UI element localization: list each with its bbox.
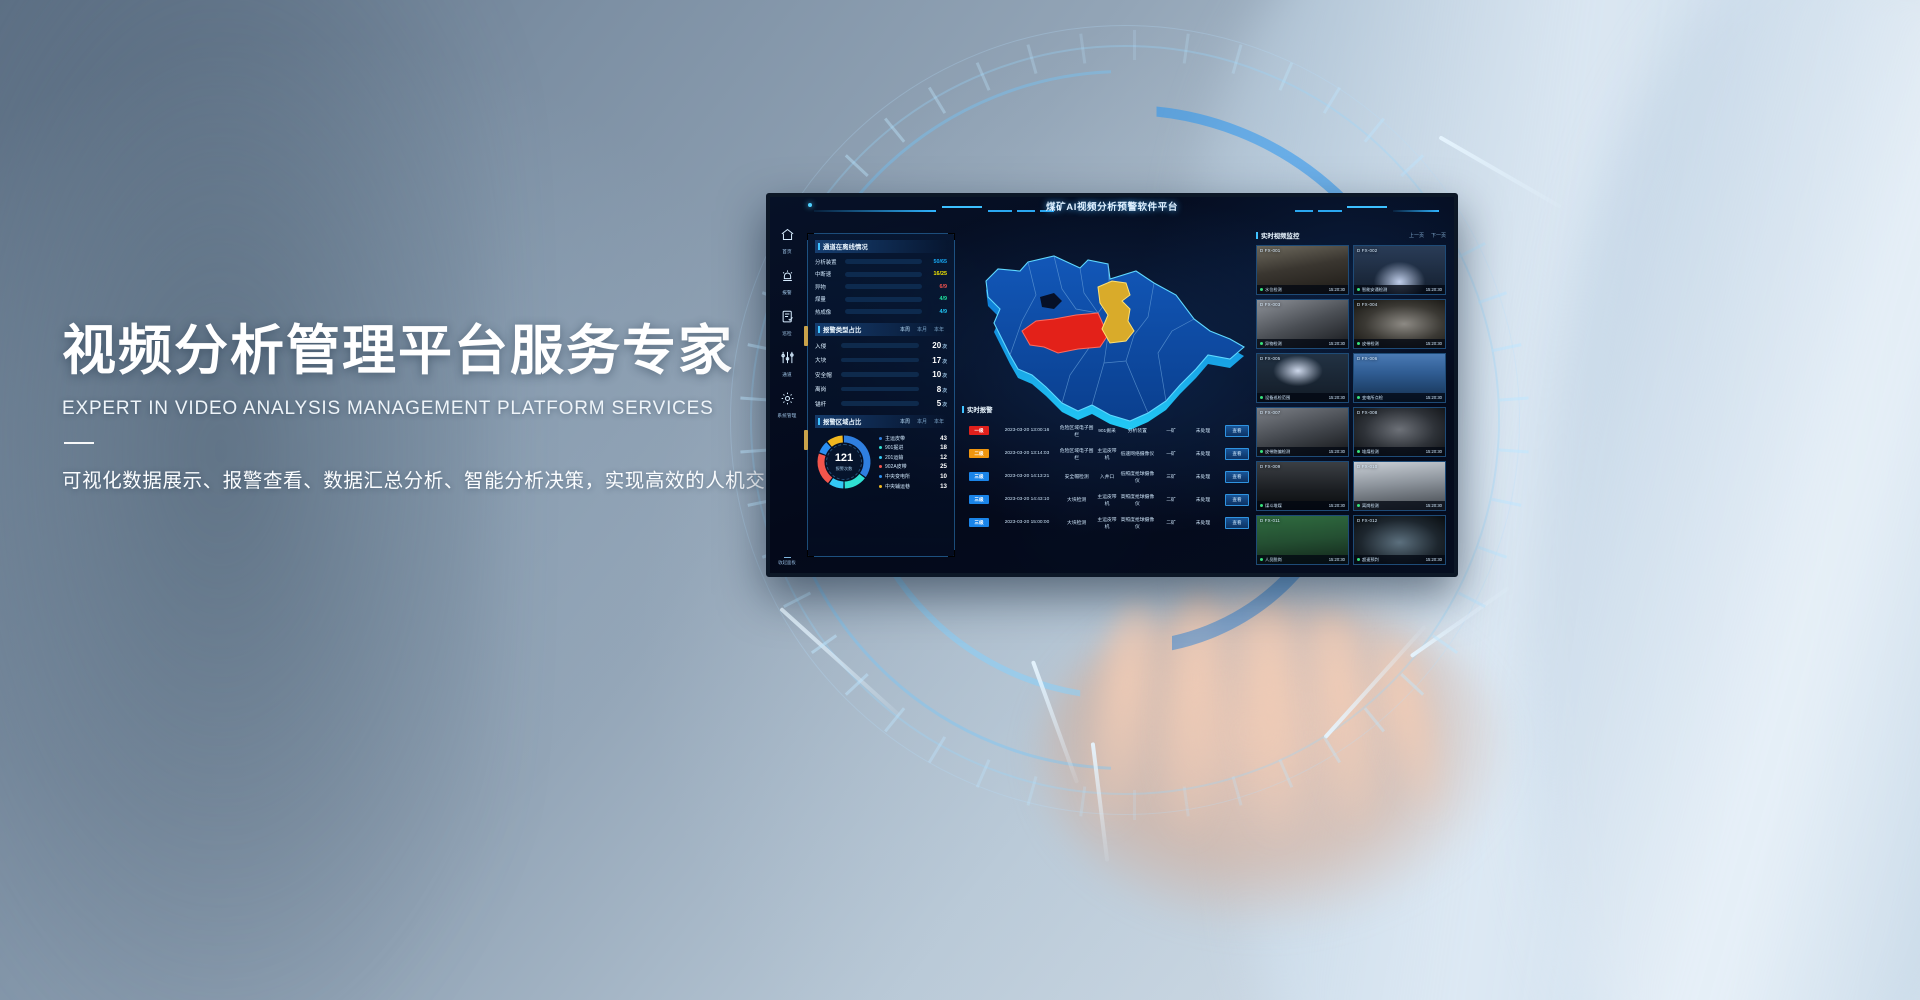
video-timestamp: 15:20:30 (1329, 287, 1345, 292)
camera-id: D FX-011 (1260, 518, 1280, 523)
alarm-device: 高照度抢球摄像仪 (1119, 488, 1156, 511)
channel-bar-track (845, 297, 922, 302)
alarm-type-value: 10次 (923, 370, 947, 379)
alarm-type-name: 入侵 (815, 342, 837, 350)
detection-status: 人员脱岗 (1260, 557, 1282, 563)
video-tile-7[interactable]: D FX-008 堆煤检测 15:20:30 (1353, 407, 1446, 457)
alarm-place: 主运皮带机 (1095, 488, 1118, 511)
detection-status: 变电所点检 (1357, 395, 1383, 401)
channel-value: 50/65 (926, 259, 947, 265)
view-button[interactable]: 查看 (1225, 448, 1248, 460)
alarm-type-value: 17次 (923, 356, 947, 365)
detection-status: 堆煤检测 (1357, 449, 1379, 455)
status-badge: 三级 (969, 495, 988, 504)
sidebar-item-3[interactable]: 通道 (780, 350, 795, 378)
video-timestamp: 15:20:30 (1329, 341, 1345, 346)
legend-color-dot (879, 485, 882, 488)
alarm-mine: 一矿 (1156, 442, 1186, 465)
sidebar-item-2[interactable]: 巡检 (780, 309, 795, 337)
sidebar-item-4[interactable]: 系统管理 (777, 391, 796, 419)
channel-name: 异物 (815, 283, 841, 291)
alarm-icon (780, 268, 795, 288)
background-dark-gradient (0, 0, 500, 1000)
view-button[interactable]: 查看 (1225, 494, 1248, 506)
channel-bar-track (845, 309, 922, 314)
detection-status: 超速预判 (1357, 557, 1379, 563)
sidebar-item-label: 系统管理 (777, 413, 796, 419)
channel-bar-track (845, 284, 922, 289)
legend-value: 43 (940, 435, 947, 442)
collapse-panel-button[interactable]: 收起面板 (770, 557, 804, 567)
alarm-place: 主运皮带机 (1095, 442, 1118, 465)
legend-label: 中央辅运巷 (885, 483, 937, 490)
status-badge: 三级 (969, 518, 988, 527)
alarm-mine: 一矿 (1156, 419, 1186, 442)
camera-id: D FX-006 (1357, 356, 1377, 361)
channel-value: 4/9 (926, 296, 947, 302)
video-timestamp: 15:20:30 (1426, 557, 1442, 562)
alarm-area-legend-item: 902A皮带 25 (879, 463, 947, 470)
alarm-mine: 二矿 (1156, 488, 1186, 511)
channel-name: 煤量 (815, 295, 841, 303)
alarm-total-count: 121 (835, 453, 853, 464)
video-tile-0[interactable]: D FX-001 水位检测 15:20:30 (1256, 245, 1349, 295)
legend-label: 902A皮带 (885, 463, 937, 470)
video-timestamp: 15:20:30 (1426, 503, 1442, 508)
alarm-type: 大块检测 (1058, 488, 1095, 511)
detection-status: 设备巡检范围 (1260, 395, 1290, 401)
table-row[interactable]: 一级 2023-03-20 13:00:16 危险区域电子围栏 901掘采 分析… (962, 419, 1254, 442)
alarm-time: 2023-03-20 13:14:03 (996, 442, 1058, 465)
alarm-device: 低速网络摄像仪 (1119, 442, 1156, 465)
legend-color-dot (879, 456, 882, 459)
channel-bar-track (845, 259, 922, 264)
alarm-area-legend-item: 中央辅运巷 13 (879, 483, 947, 490)
center-column: 实时报警 一级 2023-03-20 13:00:16 危险区域电子围栏 901… (962, 231, 1254, 557)
detection-status: 皮带跑偏检测 (1260, 449, 1290, 455)
alarm-place: 入井口 (1095, 465, 1118, 488)
camera-id: D FX-009 (1260, 464, 1280, 469)
channel-status-row: 煤量 4/9 (815, 295, 947, 303)
alarm-area-section: 报警区域占比 本周本月本年 121 报警次数 主运皮带 43 901掘进 18 (815, 415, 947, 492)
detection-status: 离岗检测 (1357, 503, 1379, 509)
realtime-alarm-title: 实时报警 (962, 405, 1254, 414)
inspection-icon (780, 309, 795, 329)
video-timestamp: 15:20:30 (1426, 341, 1442, 346)
alarm-type-row: 安全帽 10次 (815, 370, 947, 379)
camera-id: D FX-012 (1357, 518, 1377, 523)
channel-value: 6/9 (926, 284, 947, 290)
video-wall-panel: 实时视频监控 上一页 下一页 D FX-001 水位检测 15:20:30 D … (1256, 231, 1446, 557)
table-row[interactable]: 三级 2023-03-20 15:00:00 大块检测 主运皮带机 高照度抢球摄… (962, 511, 1254, 534)
view-button[interactable]: 查看 (1225, 425, 1248, 437)
table-row[interactable]: 二级 2023-03-20 13:14:03 危险区域电子围栏 主运皮带机 低速… (962, 442, 1254, 465)
alarm-type: 危险区域电子围栏 (1058, 442, 1095, 465)
video-timestamp: 15:20:30 (1426, 395, 1442, 400)
alarm-type-bar-track (841, 401, 919, 406)
legend-label: 主运皮带 (885, 435, 937, 442)
home-icon (780, 227, 795, 247)
alarm-type-bar-track (841, 372, 919, 377)
alarm-type-name: 大块 (815, 356, 837, 364)
realtime-alarm-table: 一级 2023-03-20 13:00:16 危险区域电子围栏 901掘采 分析… (962, 419, 1254, 534)
detection-status: 皮带检测 (1357, 341, 1379, 347)
video-timestamp: 15:20:30 (1426, 449, 1442, 454)
alarm-area-tab-1[interactable]: 本月 (917, 418, 927, 425)
dashboard-sidebar: 首页 报警 巡检 通道 系统管理 收起面板 (770, 221, 804, 573)
video-tile-8[interactable]: D FX-009 煤斗堆煤 15:20:30 (1256, 461, 1349, 511)
camera-id: D FX-007 (1260, 410, 1280, 415)
sidebar-item-label: 首页 (782, 249, 792, 255)
view-button[interactable]: 查看 (1225, 471, 1248, 483)
page-title: 视频分析管理平台服务专家 (62, 320, 862, 382)
alarm-status: 未处理 (1186, 488, 1220, 511)
channel-status-title: 通道在离线情况 (818, 242, 868, 251)
alarm-type-tabs[interactable]: 本周本月本年 (900, 326, 944, 333)
camera-id: D FX-001 (1260, 248, 1280, 253)
hero-description: 可视化数据展示、报警查看、数据汇总分析、智能分析决策，实现高效的人机交互 (62, 464, 862, 493)
status-badge: 一级 (969, 426, 988, 435)
alarm-type-tab-0[interactable]: 本周 (900, 326, 910, 333)
dashboard-screen: 煤矿AI视频分析预警软件平台 首页 报警 巡检 通道 系统管理 收起面板 通道在… (766, 193, 1458, 577)
video-tile-9[interactable]: D FX-010 离岗检测 15:20:30 (1353, 461, 1446, 511)
legend-label: 201运输 (885, 454, 937, 461)
alarm-status: 未处理 (1186, 419, 1220, 442)
legend-color-dot (879, 475, 882, 478)
legend-value: 12 (940, 454, 947, 461)
camera-id: D FX-008 (1357, 410, 1377, 415)
alarm-type: 大块检测 (1058, 511, 1095, 534)
alarm-device: 分析装置 (1119, 419, 1156, 442)
legend-label: 中央变电所 (885, 473, 937, 480)
legend-color-dot (879, 446, 882, 449)
video-tile-3[interactable]: D FX-004 皮带检测 15:20:30 (1353, 299, 1446, 349)
alarm-area-title: 报警区域占比 (818, 417, 861, 426)
legend-value: 25 (940, 463, 947, 470)
video-tile-11[interactable]: D FX-012 超速预判 15:20:30 (1353, 515, 1446, 565)
alarm-type-name: 锚杆 (815, 400, 837, 408)
alarm-place: 901掘采 (1095, 419, 1118, 442)
channel-value: 16/25 (926, 271, 947, 277)
legend-label: 901掘进 (885, 444, 937, 451)
legend-color-dot (879, 437, 882, 440)
video-timestamp: 15:20:30 (1329, 449, 1345, 454)
alarm-type-row: 锚杆 5次 (815, 399, 947, 408)
alarm-time: 2023-03-20 15:00:00 (996, 511, 1058, 534)
detection-status: 异物检测 (1260, 341, 1282, 347)
gear-icon (780, 391, 795, 411)
video-timestamp: 15:20:30 (1329, 503, 1345, 508)
alarm-type: 安全帽检测 (1058, 465, 1095, 488)
channel-name: 分析装置 (815, 258, 841, 266)
alarm-area-legend-item: 主运皮带 43 (879, 435, 947, 442)
alarm-type-title: 报警类型占比 (818, 325, 861, 334)
channel-status-section: 通道在离线情况 分析装置 50/65 中断速 16/25 异物 6/9 煤量 4… (815, 240, 947, 316)
alarm-device: 低照度抢球摄像仪 (1119, 465, 1156, 488)
camera-id: D FX-010 (1357, 464, 1377, 469)
alarm-type: 危险区域电子围栏 (1058, 419, 1095, 442)
video-timestamp: 15:20:30 (1426, 287, 1442, 292)
video-timestamp: 15:20:30 (1329, 395, 1345, 400)
dashboard-title: 煤矿AI视频分析预警软件平台 (770, 199, 1454, 213)
camera-id: D FX-004 (1357, 302, 1377, 307)
sidebar-item-label: 巡检 (782, 331, 792, 337)
hero-subtitle-en: EXPERT IN VIDEO ANALYSIS MANAGEMENT PLAT… (62, 398, 862, 420)
channel-status-row: 分析装置 50/65 (815, 258, 947, 266)
detection-status: 智能安通检测 (1357, 287, 1387, 293)
alarm-time: 2023-03-20 13:00:16 (996, 419, 1058, 442)
table-row[interactable]: 三级 2023-03-20 14:43:10 大块检测 主运皮带机 高照度抢球摄… (962, 488, 1254, 511)
alarm-status: 未处理 (1186, 465, 1220, 488)
dashboard-header: 煤矿AI视频分析预警软件平台 (770, 197, 1454, 219)
detection-status: 水位检测 (1260, 287, 1282, 293)
alarm-area-donut-chart: 121 报警次数 (815, 433, 873, 491)
alarm-area-legend-item: 201运输 12 (879, 454, 947, 461)
channel-icon (780, 350, 795, 370)
status-badge: 二级 (969, 449, 988, 458)
legend-value: 10 (940, 473, 947, 480)
channel-name: 热成像 (815, 308, 841, 316)
alarm-area-tabs[interactable]: 本周本月本年 (900, 418, 944, 425)
hero-divider (64, 442, 94, 444)
detection-status: 煤斗堆煤 (1260, 503, 1282, 509)
alarm-type-value: 8次 (923, 385, 947, 394)
camera-id: D FX-005 (1260, 356, 1280, 361)
camera-id: D FX-003 (1260, 302, 1280, 307)
camera-id: D FX-002 (1357, 248, 1377, 253)
video-timestamp: 15:20:30 (1329, 557, 1345, 562)
sidebar-item-label: 报警 (782, 290, 792, 296)
alarm-device: 高照度抢球摄像仪 (1119, 511, 1156, 534)
channel-bar-track (845, 272, 922, 277)
video-tile-1[interactable]: D FX-002 智能安通检测 15:20:30 (1353, 245, 1446, 295)
status-badge: 三级 (969, 472, 988, 481)
alarm-mine: 二矿 (1156, 511, 1186, 534)
alarm-type-row: 入侵 20次 (815, 341, 947, 350)
video-tile-2[interactable]: D FX-003 异物检测 15:20:30 (1256, 299, 1349, 349)
alarm-type-bar-track (841, 343, 919, 348)
video-tile-5[interactable]: D FX-006 变电所点检 15:20:30 (1353, 353, 1446, 403)
alarm-type-row: 大块 17次 (815, 356, 947, 365)
alarm-type-section: 报警类型占比 本周本月本年 入侵 20次 大块 17次 安全帽 10次 离岗 8… (815, 323, 947, 409)
channel-value: 4/9 (926, 309, 947, 315)
channel-status-row: 异物 6/9 (815, 283, 947, 291)
sidebar-item-label: 通道 (782, 372, 792, 378)
video-next-page-button[interactable]: 下一页 (1431, 232, 1446, 239)
left-stats-panel: 通道在离线情况 分析装置 50/65 中断速 16/25 异物 6/9 煤量 4… (807, 233, 955, 557)
alarm-type-name: 离岗 (815, 385, 837, 393)
sidebar-item-0[interactable]: 首页 (780, 227, 795, 255)
alarm-area-legend: 主运皮带 43 901掘进 18 201运输 12 902A皮带 25 中央变电… (879, 432, 947, 492)
alarm-mine: 三矿 (1156, 465, 1186, 488)
realtime-alarm-section: 实时报警 一级 2023-03-20 13:00:16 危险区域电子围栏 901… (962, 405, 1254, 555)
alarm-type-value: 5次 (923, 399, 947, 408)
alarm-time: 2023-03-20 14:43:10 (996, 488, 1058, 511)
alarm-type-bar-track (841, 358, 919, 363)
alarm-type-tab-1[interactable]: 本月 (917, 326, 927, 333)
alarm-type-value: 20次 (923, 341, 947, 350)
alarm-time: 2023-03-20 14:13:21 (996, 465, 1058, 488)
video-tile-6[interactable]: D FX-007 皮带跑偏检测 15:20:30 (1256, 407, 1349, 457)
channel-name: 中断速 (815, 270, 841, 278)
video-wall-title: 实时视频监控 (1256, 231, 1299, 240)
collapse-panel-label: 收起面板 (770, 560, 804, 566)
alarm-type-name: 安全帽 (815, 371, 837, 379)
alarm-area-tab-0[interactable]: 本周 (900, 418, 910, 425)
alarm-status: 未处理 (1186, 511, 1220, 534)
alarm-area-legend-item: 中央变电所 10 (879, 473, 947, 480)
channel-status-row: 中断速 16/25 (815, 270, 947, 278)
channel-status-row: 热成像 4/9 (815, 308, 947, 316)
alarm-place: 主运皮带机 (1095, 511, 1118, 534)
view-button[interactable]: 查看 (1225, 517, 1248, 529)
alarm-type-row: 离岗 8次 (815, 385, 947, 394)
video-prev-page-button[interactable]: 上一页 (1409, 232, 1424, 239)
alarm-type-tab-2[interactable]: 本年 (934, 326, 944, 333)
legend-value: 18 (940, 444, 947, 451)
alarm-total-caption: 报警次数 (836, 466, 853, 472)
video-tile-4[interactable]: D FX-005 设备巡检范围 15:20:30 (1256, 353, 1349, 403)
table-row[interactable]: 三级 2023-03-20 14:13:21 安全帽检测 入井口 低照度抢球摄像… (962, 465, 1254, 488)
hero-copy: 视频分析管理平台服务专家 EXPERT IN VIDEO ANALYSIS MA… (62, 320, 862, 493)
alarm-area-legend-item: 901掘进 18 (879, 444, 947, 451)
alarm-area-tab-2[interactable]: 本年 (934, 418, 944, 425)
legend-value: 13 (940, 483, 947, 490)
sidebar-item-1[interactable]: 报警 (780, 268, 795, 296)
alarm-type-bar-track (841, 387, 919, 392)
video-tile-10[interactable]: D FX-011 人员脱岗 15:20:30 (1256, 515, 1349, 565)
legend-color-dot (879, 465, 882, 468)
alarm-status: 未处理 (1186, 442, 1220, 465)
